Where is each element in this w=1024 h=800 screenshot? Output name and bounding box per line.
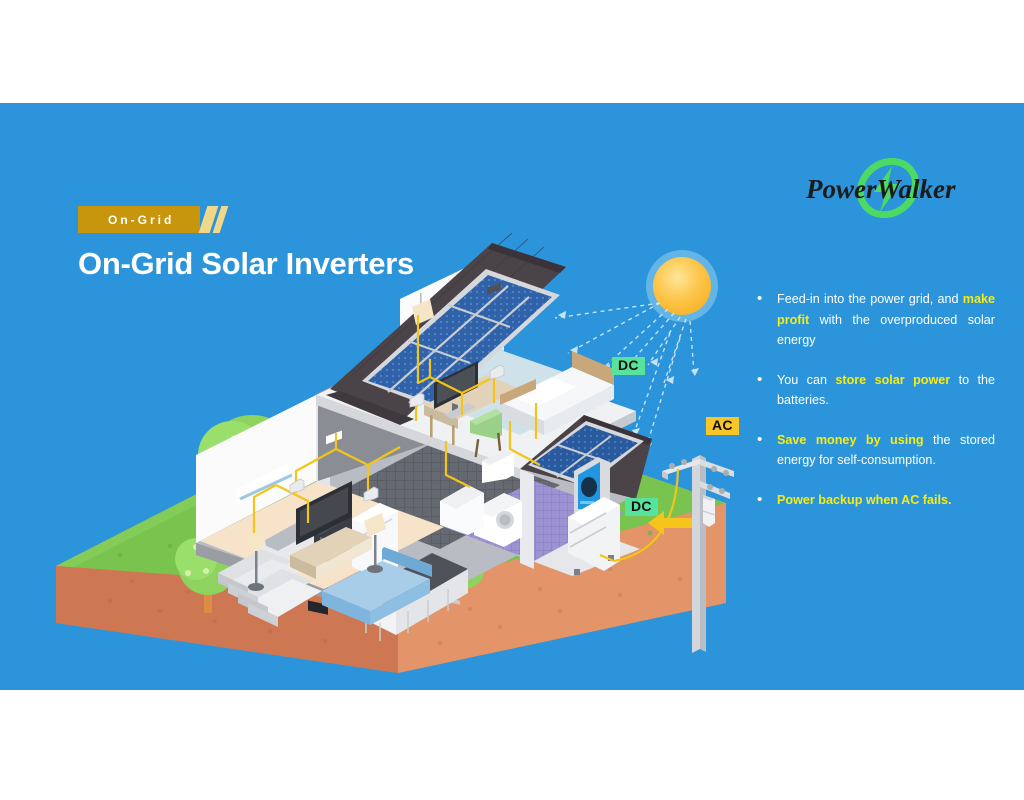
bullet-marker: •: [757, 490, 777, 511]
bullet-marker: •: [757, 370, 777, 411]
bullet-text: Save money by using the stored energy fo…: [777, 430, 995, 471]
powerwalker-logo: PowerWalker: [800, 158, 980, 218]
list-item: • Feed-in into the power grid, and make …: [757, 289, 995, 351]
bullet-text: Power backup when AC fails.: [777, 490, 995, 511]
bullet-highlight: store solar power: [835, 373, 950, 387]
bullet-text: You can store solar power to the batteri…: [777, 370, 995, 411]
list-item: • Save money by using the stored energy …: [757, 430, 995, 471]
bullet-marker: •: [757, 430, 777, 471]
on-grid-badge: On-Grid: [78, 206, 224, 233]
pole-transformer: [703, 495, 715, 527]
bullet-text: Feed-in into the power grid, and make pr…: [777, 289, 995, 351]
bullet-highlight: Save money by using: [777, 433, 924, 447]
sun-icon: [646, 250, 718, 322]
label-ac-pole: AC: [706, 417, 739, 435]
label-dc-battery: DC: [625, 498, 658, 516]
logo-wordmark: PowerWalker: [805, 174, 956, 204]
label-dc-roof: DC: [612, 357, 645, 375]
bullet-segment: You can: [777, 373, 835, 387]
slide-canvas: DC DC AC On-Grid On-Grid Solar Inverters…: [0, 0, 1024, 800]
list-item: • You can store solar power to the batte…: [757, 370, 995, 411]
bullet-segment: Feed-in into the power grid, and: [777, 292, 963, 306]
bullet-segment: with the overproduced solar energy: [777, 313, 995, 348]
on-grid-badge-label: On-Grid: [78, 206, 200, 233]
benefits-list: • Feed-in into the power grid, and make …: [757, 289, 995, 529]
list-item: • Power backup when AC fails.: [757, 490, 995, 511]
page-title: On-Grid Solar Inverters: [78, 246, 414, 282]
bullet-highlight: Power backup when AC fails.: [777, 493, 952, 507]
bullet-marker: •: [757, 289, 777, 351]
